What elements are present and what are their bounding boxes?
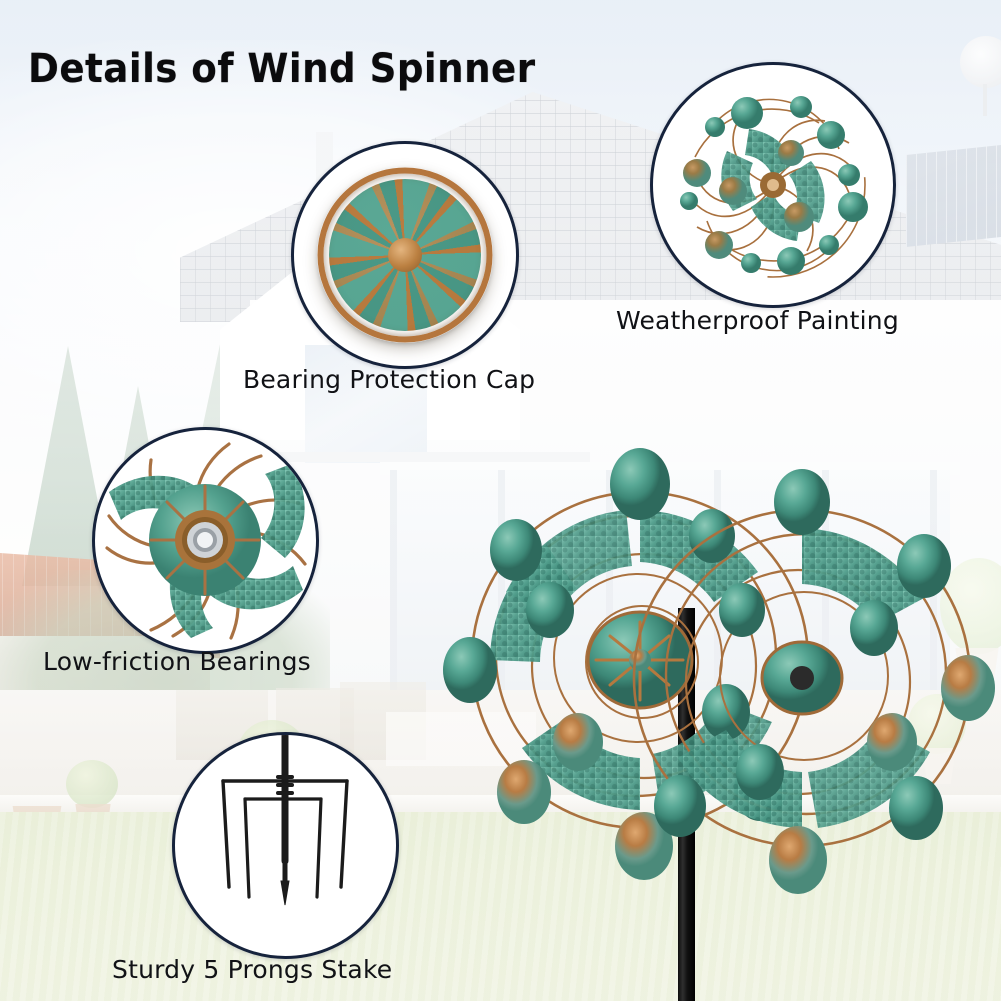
medallion-cap-icon [294,144,516,366]
page-title: Details of Wind Spinner [28,46,536,92]
callout-caption-bearings: Low-friction Bearings [43,647,311,676]
callout-bubble-weatherproof[interactable] [650,62,896,308]
callout-bubble-stake[interactable] [172,732,399,959]
callout-caption-stake: Sturdy 5 Prongs Stake [112,955,392,984]
ground-stake-icon [175,735,396,956]
callout-caption-weatherproof: Weatherproof Painting [616,306,899,335]
wind-spinner-product [430,360,1001,1001]
callout-bubble-bearing-cap[interactable] [291,141,519,369]
infographic-canvas: Details of Wind Spinner Bearing Protecti… [0,0,1001,1001]
callout-bubble-bearings[interactable] [92,427,319,654]
bearing-hub-icon [95,430,316,651]
spinner-artwork [430,360,1001,1001]
callout-caption-bearing-cap: Bearing Protection Cap [243,365,535,394]
rotor-front-icon [653,65,893,305]
